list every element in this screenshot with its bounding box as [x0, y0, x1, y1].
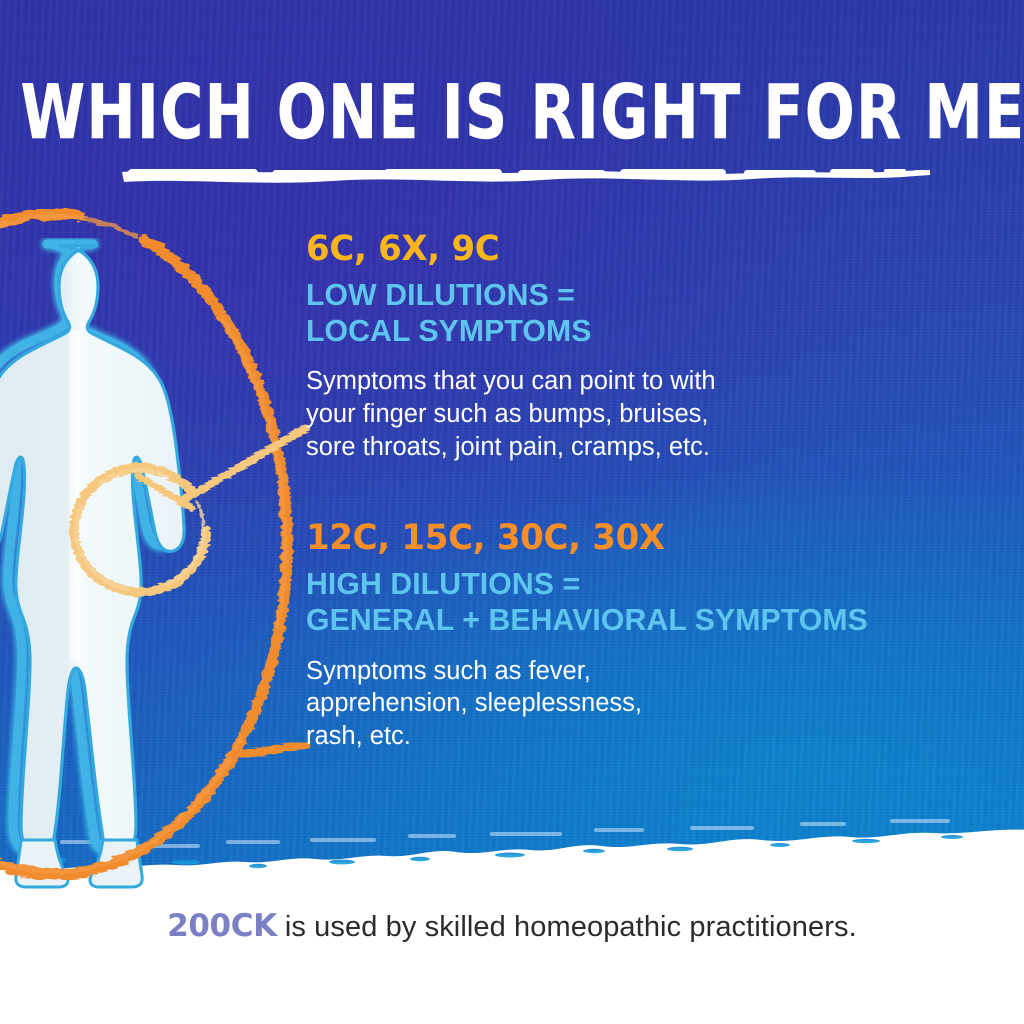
block-spacer: [306, 463, 1006, 521]
dilution-label-high: HIGH DILUTIONS = GENERAL + BEHAVIORAL SY…: [306, 567, 999, 638]
infographic-poster: WHICH ONE IS RIGHT FOR ME? 6C, 6X, 9C LO…: [0, 0, 1024, 1024]
tan-brush-circle-icon: [74, 468, 206, 592]
footer-note-text: is used by skilled homeopathic practitio…: [277, 911, 857, 943]
title-block: WHICH ONE IS RIGHT FOR ME?: [0, 76, 1024, 194]
potency-list-low: 6C, 6X, 9C: [306, 232, 985, 267]
orange-brush-circle-icon: [0, 214, 287, 874]
footer-note: 200CK is used by skilled homeopathic pra…: [0, 908, 1024, 944]
brush-annotation-graphics: [0, 186, 310, 902]
dilution-label-low: LOW DILUTIONS = LOCAL SYMPTOMS: [306, 278, 999, 349]
dilution-description-low: Symptoms that you can point to with your…: [306, 365, 1006, 463]
footer-potency-highlight: 200CK: [167, 908, 276, 944]
content-column: 6C, 6X, 9C LOW DILUTIONS = LOCAL SYMPTOM…: [306, 232, 1006, 752]
dilution-block-low: 6C, 6X, 9C LOW DILUTIONS = LOCAL SYMPTOM…: [306, 232, 1006, 463]
title-brush-underline-icon: [0, 163, 1024, 189]
dilution-block-high: 12C, 15C, 30C, 30X HIGH DILUTIONS = GENE…: [306, 521, 1006, 752]
dilution-description-high: Symptoms such as fever, apprehension, sl…: [306, 655, 1006, 753]
potency-list-high: 12C, 15C, 30C, 30X: [306, 521, 985, 556]
page-title: WHICH ONE IS RIGHT FOR ME?: [20, 76, 1003, 150]
